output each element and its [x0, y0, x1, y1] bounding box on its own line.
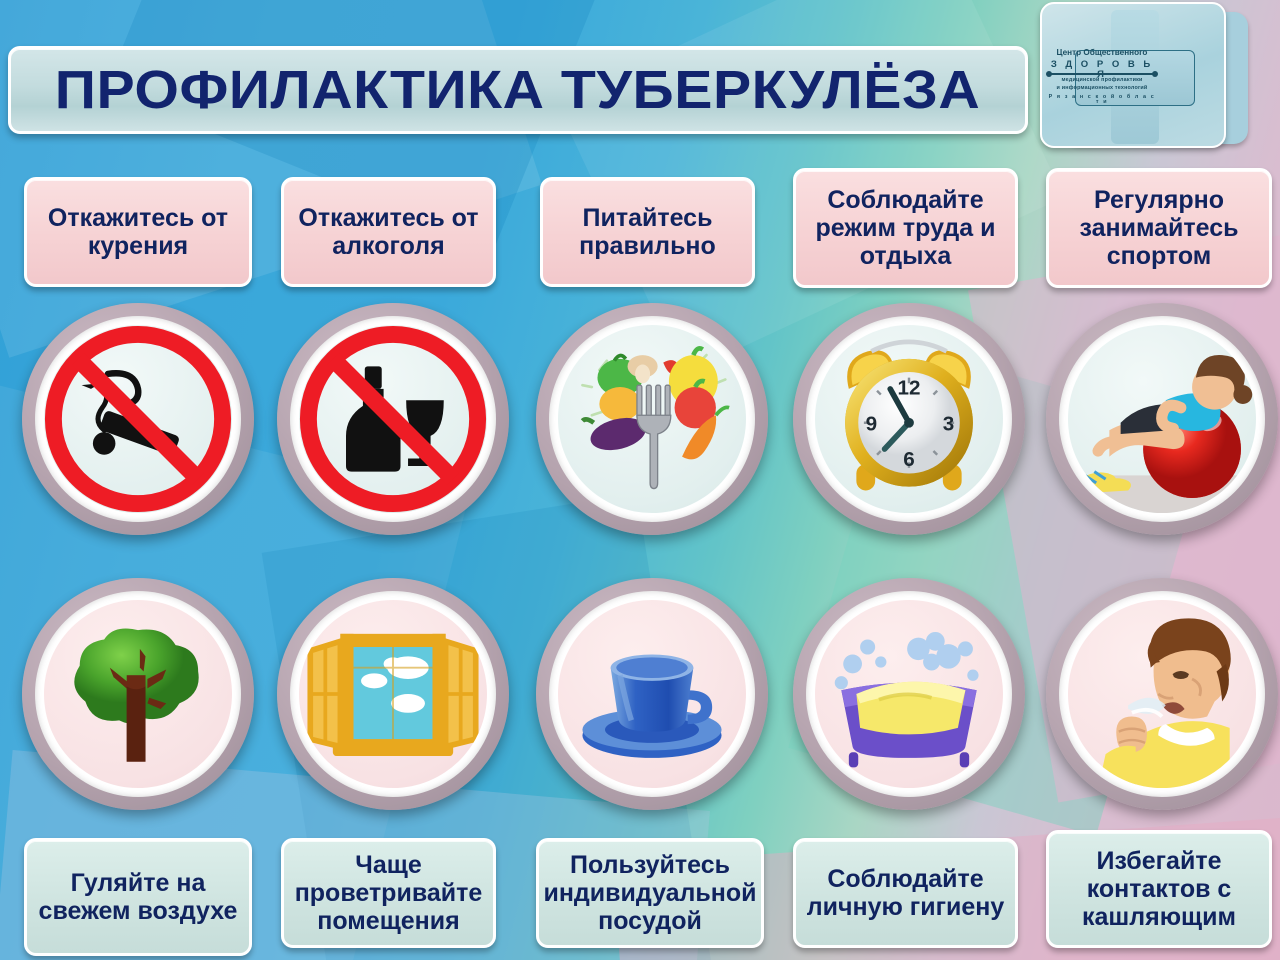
label-avoid-coughing: Избегайте контактов с кашляющим — [1046, 830, 1272, 948]
clock-numeral-12: 12 — [898, 377, 921, 400]
label-work-rest: Соблюдайте режим труда и отдыха — [793, 168, 1018, 288]
clock-numeral-9: 9 — [866, 412, 878, 435]
icon-no-alcohol — [277, 303, 509, 535]
label-no-alcohol: Откажитесь от алкоголя — [281, 177, 496, 287]
soap-bar-icon — [815, 600, 1003, 788]
no-smoking-icon — [44, 325, 232, 513]
icon-healthy-food — [536, 303, 768, 535]
icon-ventilate — [277, 578, 509, 810]
icon-avoid-coughing — [1046, 578, 1278, 810]
poster-canvas: ПРОФИЛАКТИКА ТУБЕРКУЛЁЗА Центр Обществен… — [0, 0, 1280, 960]
logo-divider — [1048, 73, 1156, 75]
logo-line-3: медицинской профилактики — [1046, 78, 1158, 83]
open-window-icon — [299, 600, 487, 788]
alarm-clock-icon: 12 3 6 9 — [815, 325, 1003, 513]
icon-alarm-clock: 12 3 6 9 — [793, 303, 1025, 535]
healthy-food-icon — [558, 325, 746, 513]
clock-numeral-6: 6 — [903, 448, 915, 471]
cup-saucer-icon — [558, 600, 746, 788]
label-fresh-air: Гуляйте на свежем воздухе — [24, 838, 252, 956]
clock-numeral-3: 3 — [943, 412, 955, 435]
sneakers-icon — [1078, 472, 1131, 493]
page-title: ПРОФИЛАКТИКА ТУБЕРКУЛЁЗА — [55, 59, 980, 121]
label-individual-dishes: Пользуйтесь индивидуальной посудой — [536, 838, 764, 948]
label-personal-hygiene: Соблюдайте личную гигиену — [793, 838, 1018, 948]
no-alcohol-icon — [299, 325, 487, 513]
logo-line-4: и информационных технологий — [1046, 86, 1158, 91]
label-healthy-food: Питайтесь правильно — [540, 177, 755, 287]
tree-icon — [44, 600, 232, 788]
label-sport: Регулярно занимайтесь спортом — [1046, 168, 1272, 288]
icon-fresh-air — [22, 578, 254, 810]
icon-individual-dishes — [536, 578, 768, 810]
label-no-smoking: Откажитесь от курения — [24, 177, 252, 287]
icon-personal-hygiene — [793, 578, 1025, 810]
label-ventilate: Чаще проветривайте помещения — [281, 838, 496, 948]
exercise-ball-icon — [1068, 325, 1256, 513]
coughing-man-icon — [1068, 600, 1256, 788]
organization-logo: Центр Общественного З Д О Р О В Ь Я меди… — [1040, 2, 1248, 150]
logo-line-1: Центр Общественного — [1046, 49, 1158, 57]
title-bar: ПРОФИЛАКТИКА ТУБЕРКУЛЁЗА — [8, 46, 1028, 134]
logo-line-5: Р я з а н с к о й о б л а с т и — [1046, 95, 1158, 106]
icon-no-smoking — [22, 303, 254, 535]
icon-exercise — [1046, 303, 1278, 535]
logo-plate: Центр Общественного З Д О Р О В Ь Я меди… — [1040, 2, 1226, 148]
